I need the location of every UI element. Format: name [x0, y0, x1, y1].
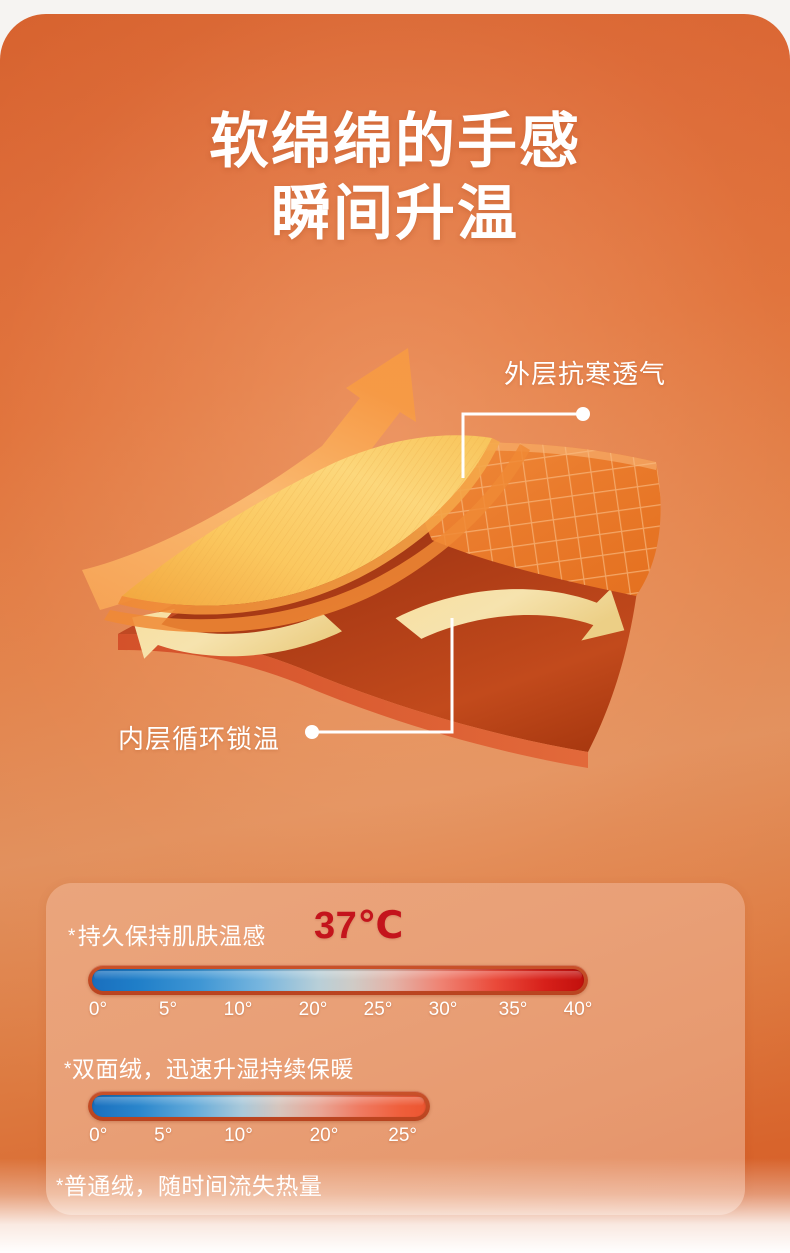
leader-line-outer	[459, 404, 599, 482]
temperature-bar-1-ticks: 0° 5° 10° 20° 25° 30° 35° 40°	[88, 999, 588, 1027]
card-row1-text: 持久保持肌肤温感	[78, 923, 266, 949]
title-line-2: 瞬间升温	[0, 178, 790, 250]
title-line-1: 软绵绵的手感	[0, 106, 790, 178]
card-row2-label: *双面绒，迅速升湿持续保暖	[64, 1050, 354, 1084]
product-feature-page: 软绵绵的手感 瞬间升温	[0, 0, 790, 1253]
tick-label: 5°	[154, 1125, 172, 1147]
tick-label: 25°	[364, 999, 393, 1021]
card-row1-label: *持久保持肌肤温感	[68, 917, 266, 951]
temperature-badge: 37℃	[314, 903, 404, 948]
callout-inner-layer: 内层循环锁温	[118, 719, 280, 756]
card-row2-text: 双面绒，迅速升湿持续保暖	[72, 1056, 354, 1082]
tick-label: 0°	[89, 1125, 107, 1147]
tick-label: 20°	[310, 1125, 339, 1147]
asterisk-icon: *	[68, 926, 76, 947]
temperature-bar-2-frame	[88, 1091, 430, 1121]
asterisk-icon: *	[56, 1176, 64, 1197]
temperature-bar-2-ticks: 0° 5° 10° 20° 25°	[88, 1125, 430, 1153]
card-row3-text: 普通绒，随时间流失热量	[64, 1173, 323, 1199]
temperature-info-card: *持久保持肌肤温感 37℃ 0° 5° 10° 20° 25° 30° 35° …	[46, 883, 745, 1215]
tick-label: 10°	[224, 999, 253, 1021]
page-title: 软绵绵的手感 瞬间升温	[0, 106, 790, 250]
orange-panel: 软绵绵的手感 瞬间升温	[0, 14, 790, 1253]
temperature-bar-2-gradient	[92, 1095, 426, 1117]
tick-label: 25°	[388, 1125, 417, 1147]
tick-label: 5°	[159, 999, 177, 1021]
callout-outer-layer: 外层抗寒透气	[504, 354, 666, 391]
tick-label: 0°	[89, 999, 107, 1021]
temperature-bar-1-frame	[88, 965, 588, 995]
asterisk-icon: *	[64, 1059, 72, 1080]
temperature-bar-double-sided: 0° 5° 10° 20° 25° 30° 35° 40°	[88, 965, 588, 1027]
temperature-bar-ordinary: 0° 5° 10° 20° 25°	[88, 1091, 430, 1153]
leader-line-inner	[300, 614, 456, 746]
tick-label: 20°	[299, 999, 328, 1021]
tick-label: 40°	[564, 999, 593, 1021]
tick-label: 35°	[499, 999, 528, 1021]
card-row3-label: *普通绒，随时间流失热量	[56, 1167, 322, 1201]
tick-label: 30°	[429, 999, 458, 1021]
tick-label: 10°	[224, 1125, 253, 1147]
temperature-bar-1-gradient	[92, 969, 584, 991]
